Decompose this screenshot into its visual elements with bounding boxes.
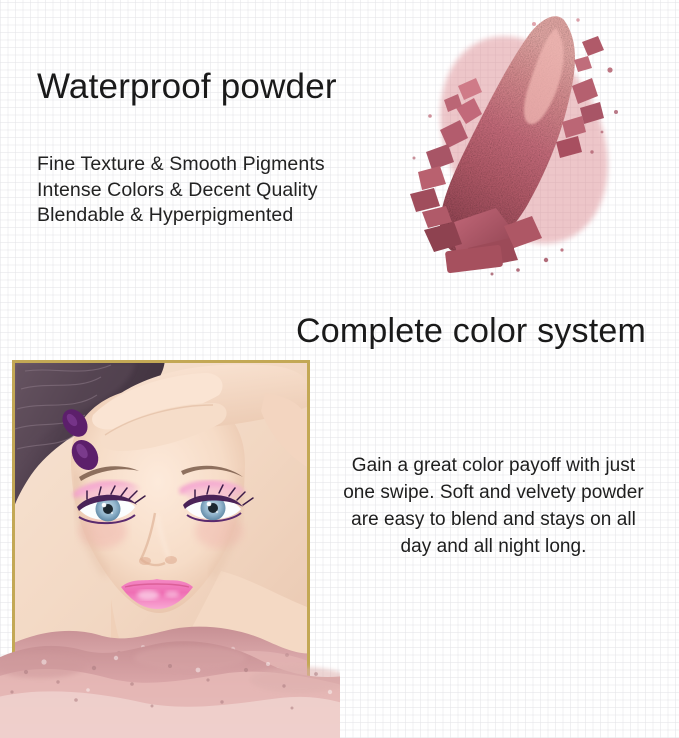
description-line-2: one swipe. Soft and velvety powder [316, 479, 671, 506]
powder-swatch-image [396, 12, 646, 280]
feature-list: Fine Texture & Smooth Pigments Intense C… [37, 152, 325, 229]
feature-line-1: Fine Texture & Smooth Pigments [37, 152, 325, 178]
product-infographic-page: Waterproof powder Fine Texture & Smooth … [0, 0, 679, 738]
description-line-4: day and all night long. [316, 533, 671, 560]
model-photo-graphic [15, 363, 307, 688]
model-photo-frame [12, 360, 310, 691]
description-line-3: are easy to blend and stays on all [316, 506, 671, 533]
feature-line-3: Blendable & Hyperpigmented [37, 203, 325, 229]
powder-swatch-graphic [396, 12, 646, 280]
feature-line-2: Intense Colors & Decent Quality [37, 178, 325, 204]
heading-waterproof-powder: Waterproof powder [37, 68, 337, 107]
description-paragraph: Gain a great color payoff with just one … [316, 452, 671, 560]
description-line-1: Gain a great color payoff with just [316, 452, 671, 479]
heading-complete-color-system: Complete color system [296, 313, 646, 350]
